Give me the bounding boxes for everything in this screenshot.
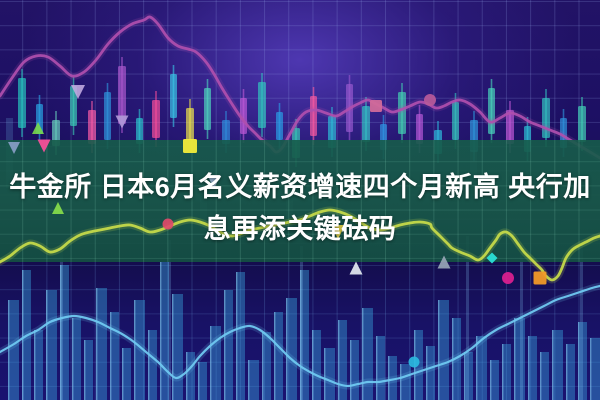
news-banner-image: 牛金所 日本6月名义薪资增速四个月新高 央行加 息再添关键砝码	[0, 0, 600, 400]
headline-text: 牛金所 日本6月名义薪资增速四个月新高 央行加 息再添关键砝码	[0, 166, 600, 250]
